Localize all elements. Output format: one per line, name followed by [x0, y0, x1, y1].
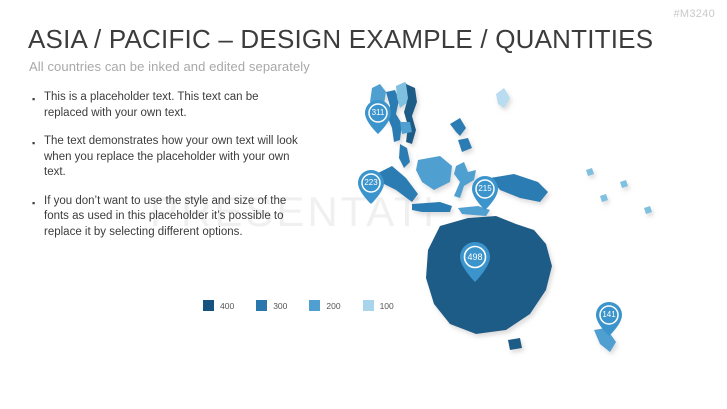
map-pin-label: 141	[596, 310, 622, 319]
map-pin-label: 311	[365, 108, 391, 117]
island-java[interactable]	[412, 202, 452, 212]
list-item: ▪ If you don’t want to use the style and…	[32, 194, 302, 241]
list-item: ▪ The text demonstrates how your own tex…	[32, 134, 302, 181]
map-pin[interactable]: 141	[596, 302, 622, 336]
map-pin[interactable]: 311	[365, 100, 391, 134]
bullet-marker-icon: ▪	[32, 134, 44, 181]
country-philippines[interactable]	[450, 118, 472, 152]
map-pin[interactable]: 498	[460, 242, 490, 282]
legend-item: 400	[203, 300, 234, 311]
country-papua-new-guinea[interactable]	[490, 174, 548, 202]
bullet-text: This is a placeholder text. This text ca…	[44, 90, 302, 121]
bullet-text: If you don’t want to use the style and s…	[44, 194, 302, 241]
bullet-text: The text demonstrates how your own text …	[44, 134, 302, 181]
page-title: ASIA / PACIFIC – DESIGN EXAMPLE / QUANTI…	[28, 24, 653, 55]
list-item: ▪ This is a placeholder text. This text …	[32, 90, 302, 121]
legend-label: 400	[220, 301, 234, 311]
slide-code: #M3240	[673, 8, 715, 20]
bullet-marker-icon: ▪	[32, 194, 44, 241]
asia-pacific-map: 311 223 215 498	[300, 78, 720, 378]
country-malaysia[interactable]	[399, 144, 410, 168]
island-tasmania[interactable]	[508, 338, 522, 350]
legend-item: 300	[256, 300, 287, 311]
island-borneo[interactable]	[416, 156, 452, 190]
country-japan[interactable]	[496, 88, 510, 108]
country-cambodia[interactable]	[400, 122, 412, 134]
bullet-marker-icon: ▪	[32, 90, 44, 121]
map-pin-label: 215	[472, 184, 498, 193]
legend-label: 300	[273, 301, 287, 311]
slide: #M3240 ASIA / PACIFIC – DESIGN EXAMPLE /…	[0, 0, 727, 409]
legend-swatch	[203, 300, 214, 311]
map-pin-label: 498	[460, 252, 490, 262]
legend-swatch	[256, 300, 267, 311]
island-pacific-group[interactable]	[586, 168, 652, 214]
map-pin[interactable]: 223	[358, 170, 384, 204]
map-pin-label: 223	[358, 178, 384, 187]
map-pin[interactable]: 215	[472, 176, 498, 210]
bullet-list: ▪ This is a placeholder text. This text …	[32, 90, 302, 253]
page-subtitle: All countries can be inked and edited se…	[29, 59, 310, 74]
map-svg	[300, 78, 720, 378]
